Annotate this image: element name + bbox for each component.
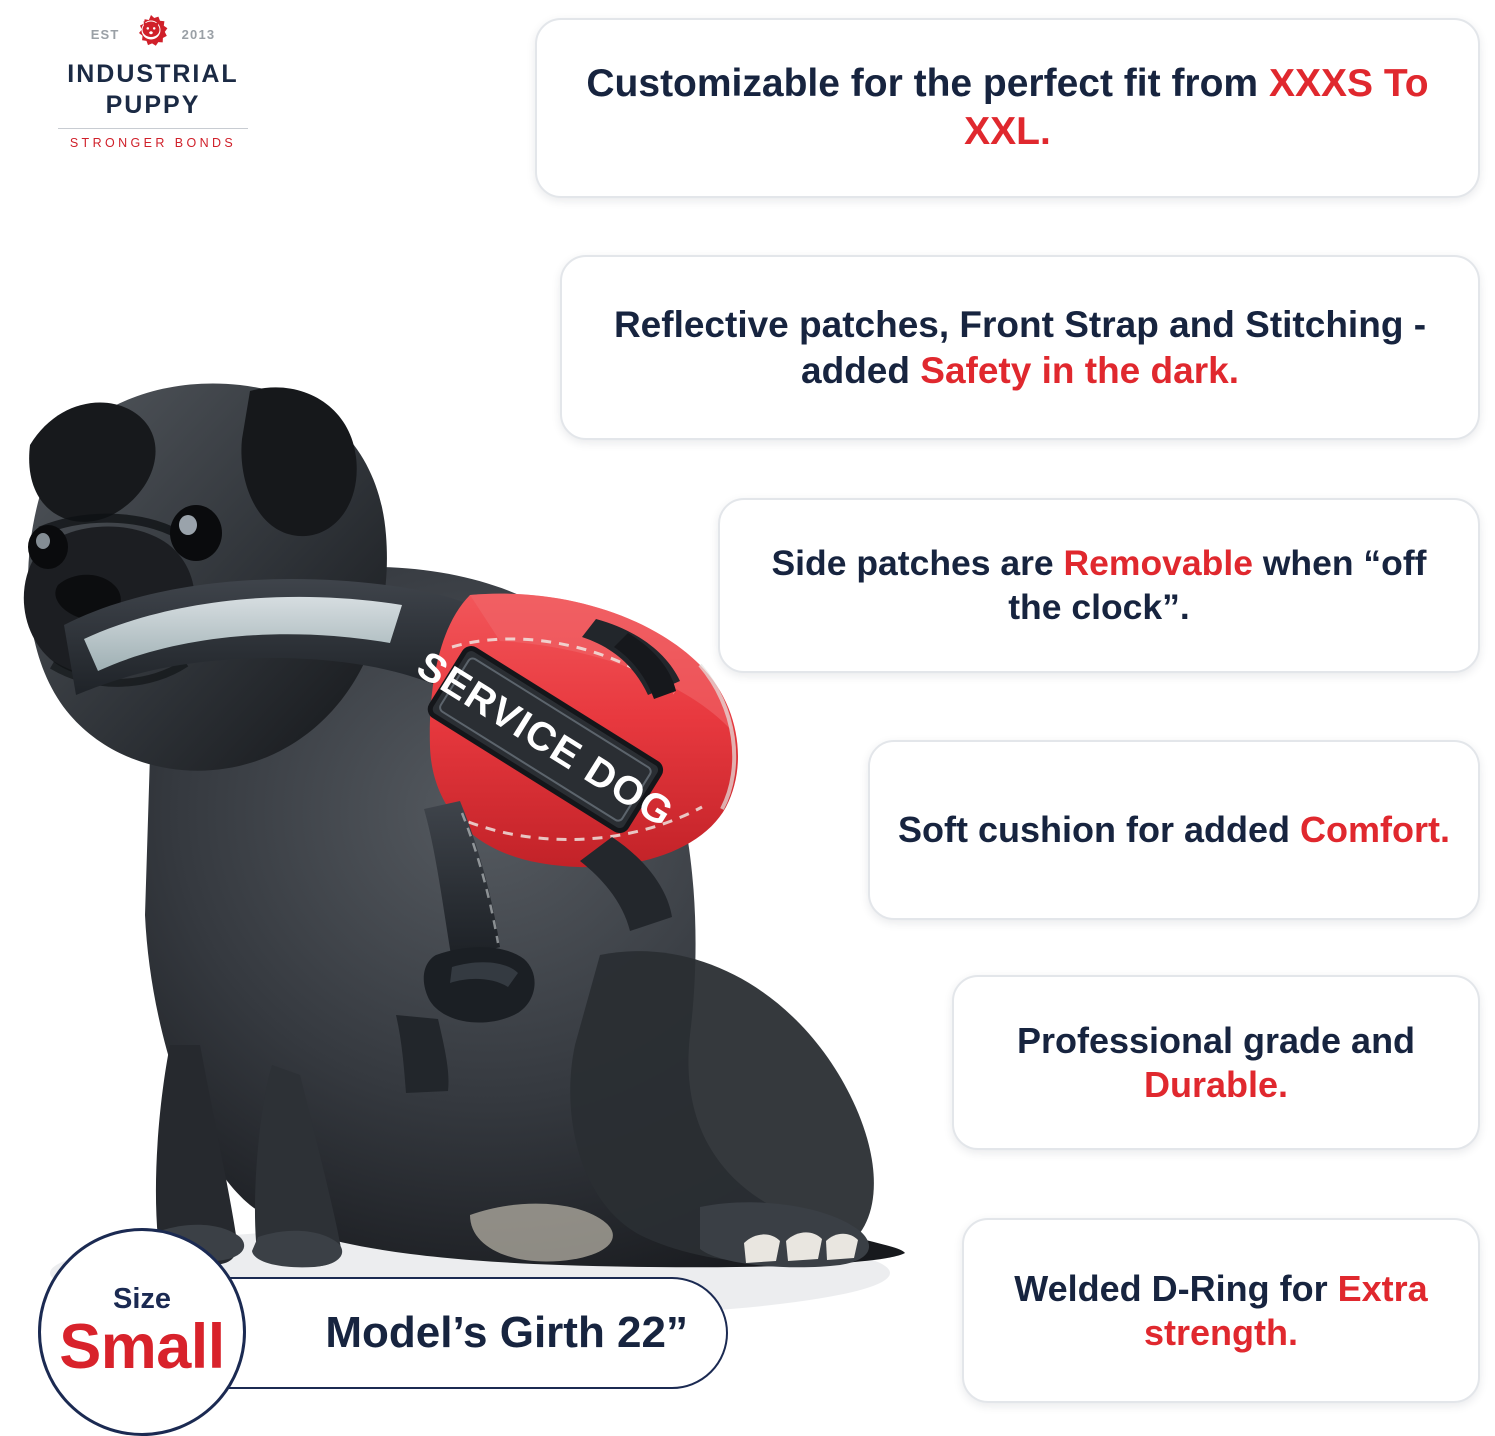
callout-cushion-text: Soft cushion for added	[898, 809, 1300, 850]
logo-top-row: EST 2013	[38, 10, 268, 58]
brand-logo: EST 2013 INDUSTRIAL PUPPY STRONGER BONDS	[38, 10, 268, 150]
size-badge-value: Small	[59, 1316, 225, 1379]
callout-professional-text: Professional grade and	[1017, 1020, 1415, 1061]
logo-tagline: STRONGER BONDS	[38, 136, 268, 150]
callout-professional: Professional grade and Durable.	[952, 975, 1480, 1150]
callout-fit-text: Customizable for the perfect fit from	[586, 62, 1269, 105]
logo-divider	[58, 128, 248, 129]
girth-text: Model’s Girth 22”	[325, 1308, 688, 1358]
callout-side-patches-highlight: Removable	[1064, 543, 1253, 583]
callout-d-ring-text: Welded D-Ring for	[1014, 1268, 1337, 1309]
harness-buckle	[424, 947, 535, 1022]
size-badge-label: Size	[113, 1285, 171, 1314]
logo-name-line1: INDUSTRIAL	[38, 60, 268, 89]
callout-reflective: Reflective patches, Front Strap and Stit…	[560, 255, 1480, 440]
logo-name-line2: PUPPY	[38, 91, 268, 120]
callout-professional-highlight: Durable.	[1144, 1064, 1288, 1105]
callout-fit: Customizable for the perfect fit from XX…	[535, 18, 1480, 198]
logo-year-label: 2013	[182, 27, 216, 42]
callout-reflective-highlight: Safety in the dark.	[920, 350, 1239, 391]
logo-est-label: EST	[91, 27, 120, 42]
callout-d-ring: Welded D-Ring for Extra strength.	[962, 1218, 1480, 1403]
callout-cushion-highlight: Comfort.	[1300, 809, 1450, 850]
callout-cushion: Soft cushion for added Comfort.	[868, 740, 1480, 920]
callout-side-patches-text: Side patches are	[772, 543, 1064, 583]
size-badge: Size Small	[38, 1228, 246, 1436]
gear-dog-icon	[130, 13, 172, 55]
callout-side-patches: Side patches are Removable when “off the…	[718, 498, 1480, 673]
